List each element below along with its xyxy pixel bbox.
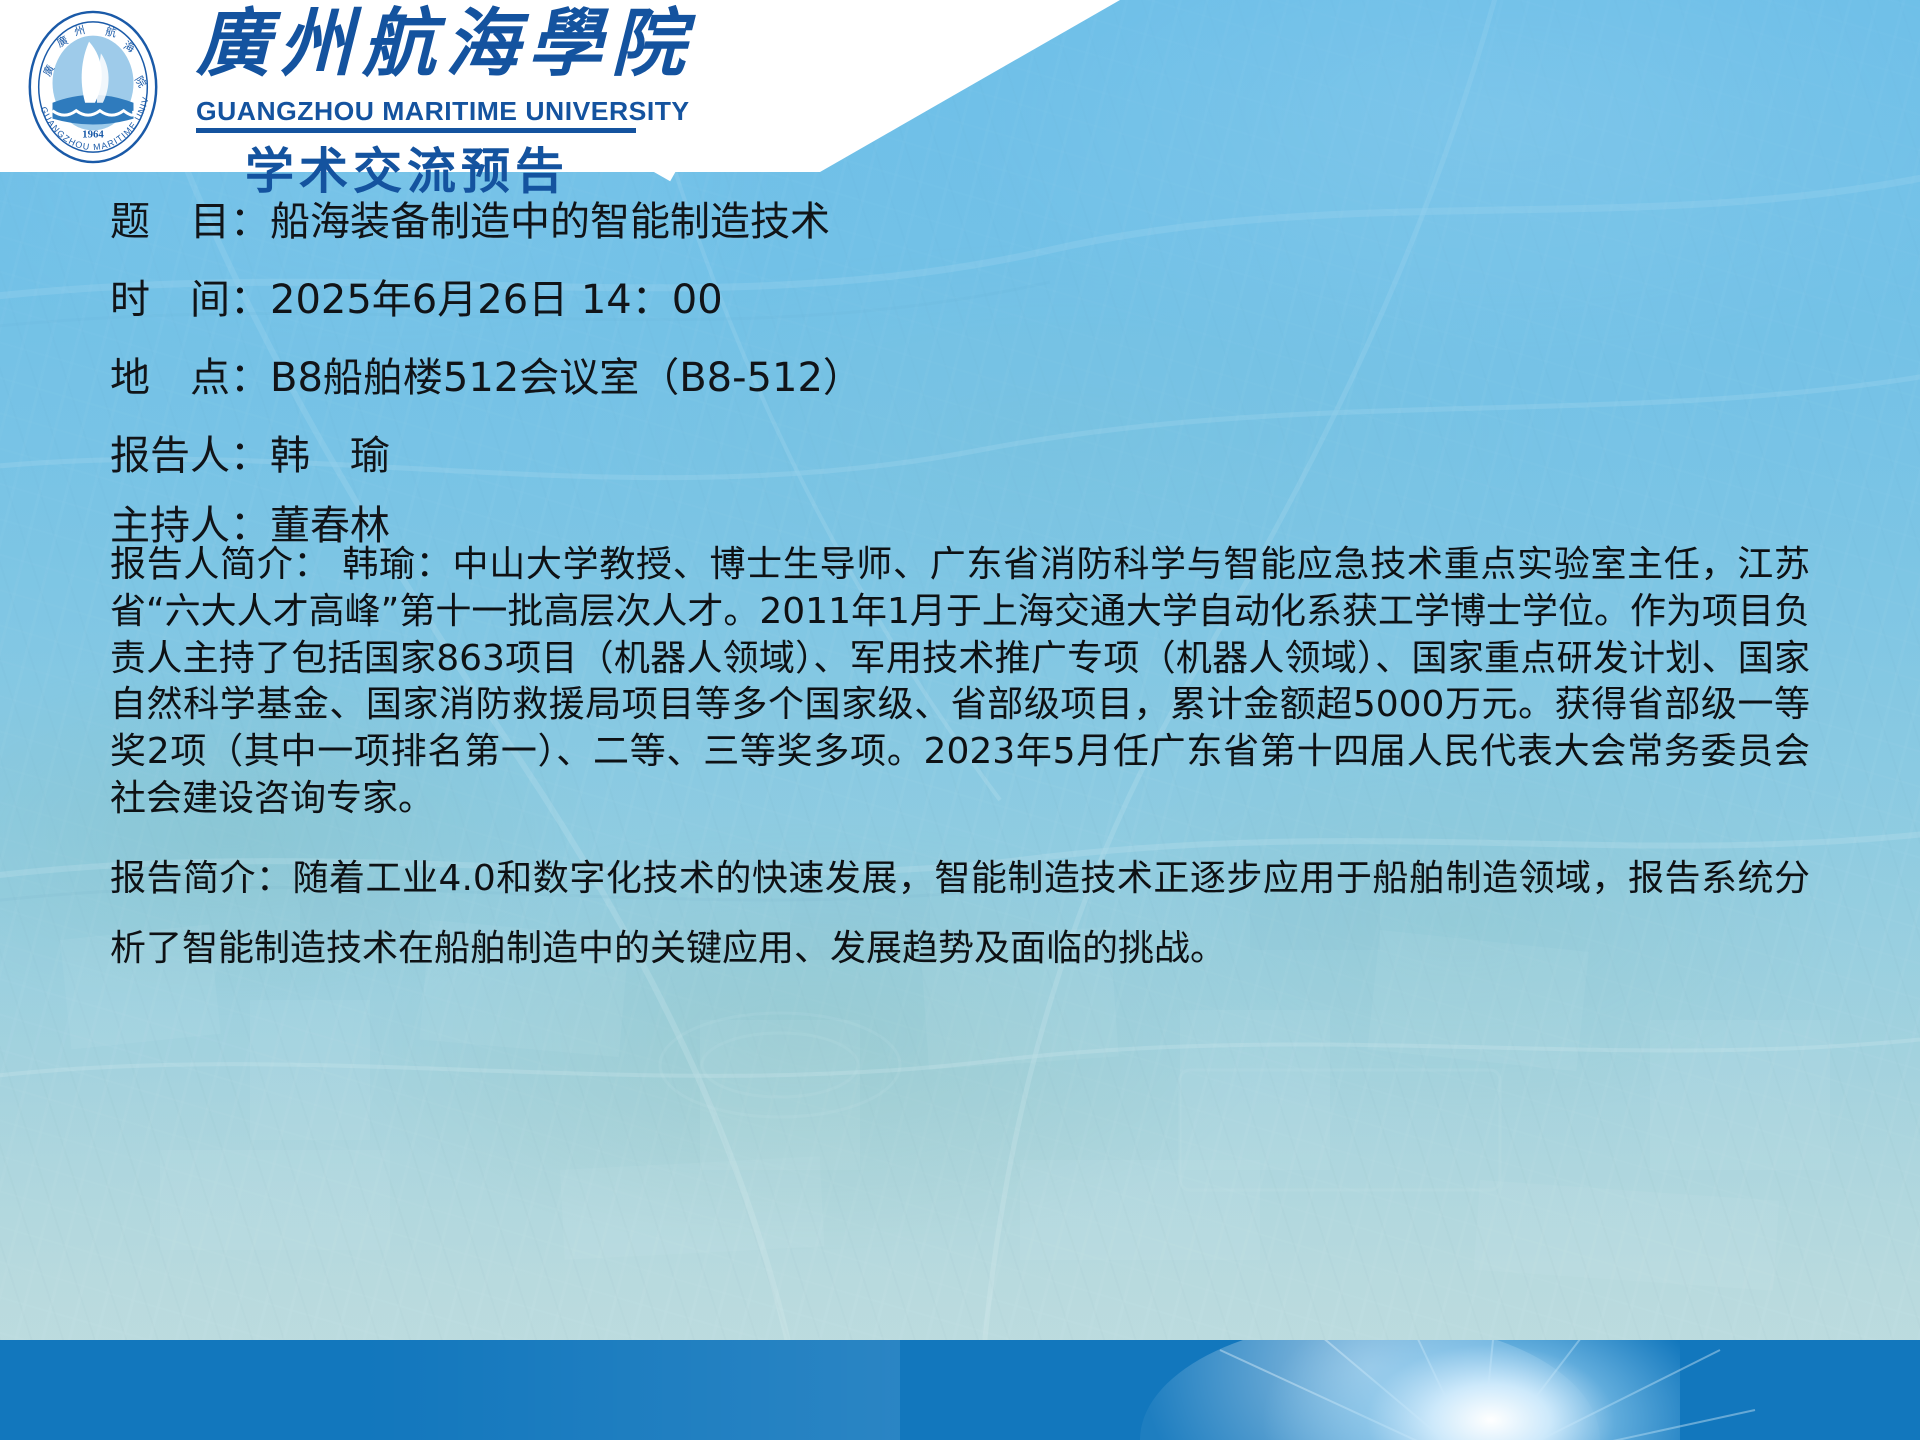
event-info-block: 题 目：船海装备制造中的智能制造技术 时 间：2025年6月26日 14：00 … — [110, 202, 1870, 560]
poster-footer — [0, 1340, 1920, 1440]
info-label-speaker: 报告人： — [110, 433, 270, 479]
info-value-time: 2025年6月26日 14：00 — [270, 277, 723, 323]
info-label-time: 时 间： — [110, 277, 270, 323]
info-value-topic: 船海装备制造中的智能制造技术 — [270, 199, 830, 245]
svg-text:1964: 1964 — [82, 128, 104, 140]
university-crest-sailboat-icon: 1964 廣 州 航 海 廣 院 GUANGZHOU MARITIME UNIV… — [14, 8, 172, 166]
speaker-bio-paragraph: 报告人简介： 韩瑜：中山大学教授、博士生导师、广东省消防科学与智能应急技术重点实… — [110, 542, 1810, 823]
university-name-en: GUANGZHOU MARITIME UNIVERSITY — [196, 96, 690, 127]
info-row-topic: 题 目：船海装备制造中的智能制造技术 — [110, 202, 1870, 242]
info-value-location: B8船舶楼512会议室（B8-512） — [270, 355, 863, 401]
info-row-host: 主持人：董春林 — [110, 506, 1870, 546]
poster-body: 题 目：船海装备制造中的智能制造技术 时 间：2025年6月26日 14：00 … — [0, 172, 1920, 1340]
poster-root: 1964 廣 州 航 海 廣 院 GUANGZHOU MARITIME UNIV… — [0, 0, 1920, 1440]
talk-abstract-paragraph: 报告简介：随着工业4.0和数字化技术的快速发展，智能制造技术正逐步应用于船舶制造… — [110, 844, 1810, 984]
info-label-topic: 题 目： — [110, 199, 270, 245]
info-row-location: 地 点：B8船舶楼512会议室（B8-512） — [110, 358, 1870, 398]
info-value-speaker: 韩 瑜 — [270, 433, 390, 479]
info-row-speaker: 报告人：韩 瑜 — [110, 436, 1870, 476]
footer-left-glow — [0, 1340, 900, 1440]
poster-header: 1964 廣 州 航 海 廣 院 GUANGZHOU MARITIME UNIV… — [0, 0, 1920, 172]
info-row-time: 时 间：2025年6月26日 14：00 — [110, 280, 1870, 320]
info-label-location: 地 点： — [110, 355, 270, 401]
footer-light-burst — [1260, 1340, 1680, 1440]
university-name-cn: 廣州航海學院 — [196, 6, 694, 86]
